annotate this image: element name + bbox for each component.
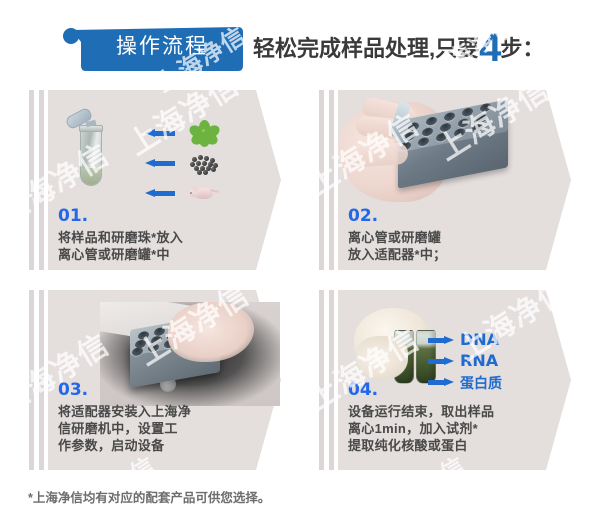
plant-sample-icon [189, 120, 219, 146]
left-arrow-icon [145, 189, 175, 198]
card-bar-outer [319, 290, 324, 470]
mouse-sample-icon [189, 180, 219, 206]
right-arrow-icon [428, 336, 454, 345]
step-description-1: 将样品和研磨珠*放入 离心管或研磨罐*中 [58, 229, 258, 263]
banner-title: 操作流程 [92, 31, 232, 63]
grinder-install-photo [100, 302, 280, 406]
card-left-bars [316, 90, 338, 270]
page-header: 操作流程 轻松完成样品处理,只要4步： [0, 0, 600, 88]
card-bar-outer [29, 290, 34, 470]
footer-note: *上海净信均有对应的配套产品可供您选择。 [28, 487, 448, 509]
left-arrow-icon [145, 159, 175, 168]
card-bar-inner [39, 290, 44, 470]
gloved-thumb [356, 336, 408, 380]
finger [345, 142, 408, 168]
step-number-3: 03. [58, 382, 88, 399]
grinding-beads-icon [189, 150, 219, 176]
tagline-prefix: 轻松完成样品处理,只要 [253, 36, 479, 61]
card-left-bars [316, 290, 338, 470]
input-row-plant [145, 126, 215, 140]
card-left-bars [26, 290, 48, 470]
right-arrow-icon [428, 378, 454, 387]
output-label-dna: DNA [460, 330, 499, 350]
card-bar-inner [329, 90, 334, 270]
step-description-2: 离心管或研磨罐 放入适配器*中； [348, 229, 548, 263]
card-left-bars [26, 90, 48, 270]
card-bar-outer [319, 90, 324, 270]
card-bar-inner [329, 290, 334, 470]
step-number-1: 01. [58, 208, 88, 225]
right-arrow-icon [428, 357, 454, 366]
card-bar-outer [29, 90, 34, 270]
input-row-animal [145, 186, 215, 200]
header-tagline: 轻松完成样品处理,只要4步： [253, 29, 544, 67]
step-description-4: 设备运行结束，取出样品 离心1min，加入试剂* 提取纯化核酸或蛋白 [348, 403, 563, 454]
output-label-rna: RNA [460, 351, 498, 371]
tagline-step-count: 4 [479, 26, 500, 70]
tagline-suffix: 步： [500, 36, 544, 61]
centrifuge-tube-icon [74, 112, 106, 190]
step-description-3: 将适配器安装入上海净 信研磨机中，设置工 作参数，启动设备 [58, 403, 263, 454]
card-bar-inner [39, 90, 44, 270]
step-number-2: 02. [348, 208, 378, 225]
left-arrow-icon [145, 129, 175, 138]
infographic-page: 操作流程 轻松完成样品处理,只要4步： [0, 0, 600, 526]
step-number-4: 04. [348, 382, 378, 399]
adapter-block-photo [338, 96, 528, 204]
output-label-protein: 蛋白质 [460, 374, 502, 394]
input-row-beads [145, 156, 215, 170]
